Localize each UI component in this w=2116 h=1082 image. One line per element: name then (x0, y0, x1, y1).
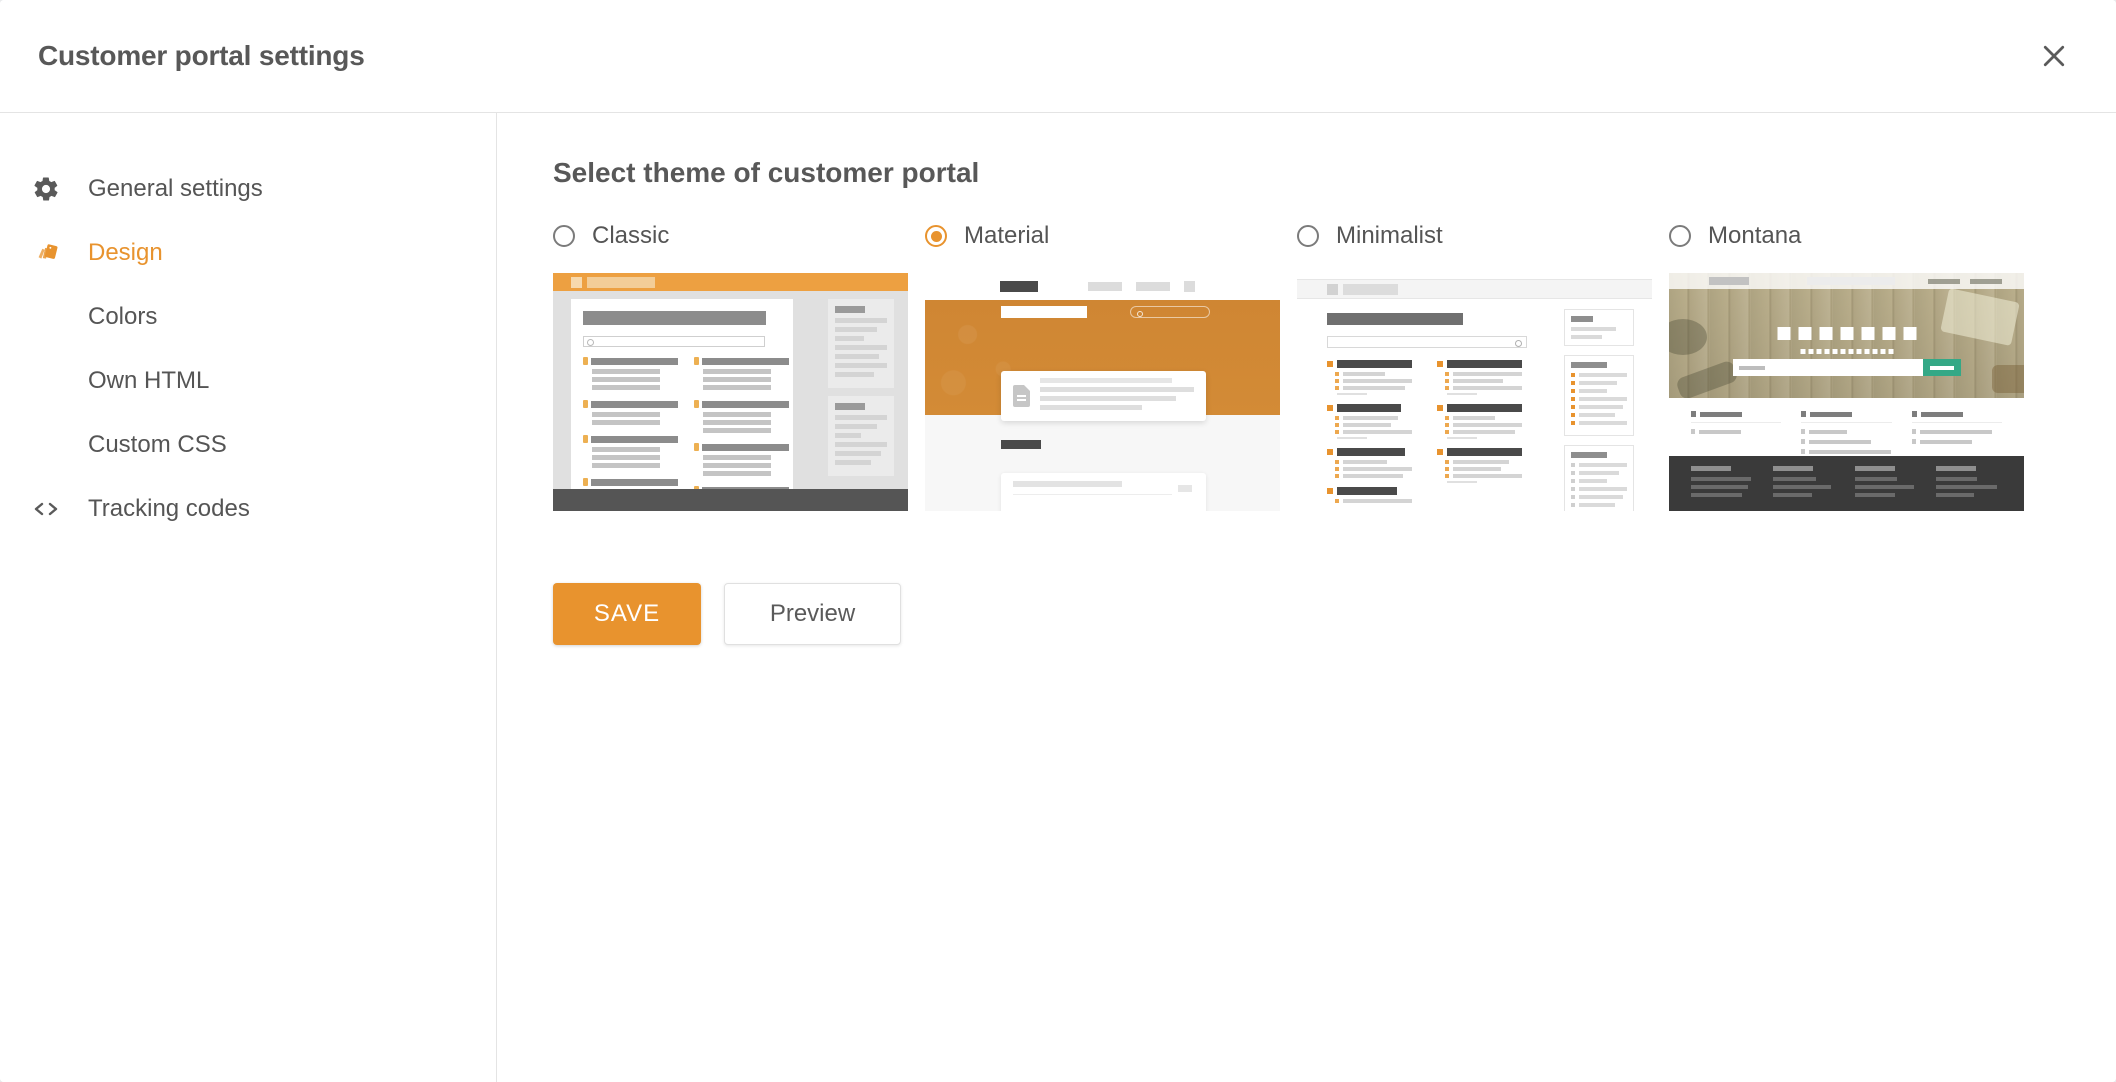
thumb-group-title (1337, 360, 1412, 368)
thumb-group (583, 435, 678, 468)
bullet-icon (1571, 397, 1575, 401)
bullet-icon (1571, 479, 1575, 483)
thumb-footer-title (1691, 466, 1731, 471)
bullet-icon (1445, 467, 1449, 471)
bullet-icon (1571, 381, 1575, 385)
thumb-icon (1882, 327, 1895, 340)
action-buttons: SAVE Preview (553, 583, 2116, 645)
thumb-group-head (694, 400, 789, 408)
folder-icon (583, 357, 588, 365)
sidebar-item-label: Colors (88, 303, 157, 331)
bullet-icon (1801, 449, 1805, 454)
thumb-title-bar (1327, 313, 1463, 325)
thumb-icon (1819, 327, 1832, 340)
thumb-side-row (1571, 405, 1627, 409)
bullet-icon (1571, 389, 1575, 393)
thumb-line (1453, 386, 1522, 390)
thumb-list-card (1001, 473, 1206, 511)
thumb-line (703, 471, 771, 476)
thumb-side-row (1571, 421, 1627, 425)
thumb-line (1343, 499, 1412, 503)
bullet-icon (1445, 474, 1449, 478)
theme-thumbnail-minimalist[interactable] (1297, 273, 1652, 511)
thumb-group (694, 443, 789, 476)
thumb-line (835, 363, 887, 368)
thumb-line (1579, 405, 1623, 409)
thumb-line (592, 369, 660, 374)
radio-montana[interactable]: Montana (1669, 219, 2041, 253)
preview-button[interactable]: Preview (724, 583, 901, 645)
bullet-icon (1571, 421, 1575, 425)
thumb-sub-item (1335, 372, 1412, 376)
thumb-group-head (1327, 360, 1412, 368)
thumb-line (703, 385, 771, 390)
thumb-icon (1801, 411, 1806, 417)
bullet-icon (1335, 474, 1339, 478)
thumb-side-title (1571, 362, 1607, 368)
thumb-icon (1903, 327, 1916, 340)
thumb-footer (1669, 456, 2024, 511)
thumb-logo (1327, 284, 1338, 295)
sidebar-item-label: General settings (88, 175, 263, 203)
thumb-line (703, 428, 771, 433)
bullet-icon (1437, 405, 1443, 411)
thumb-placeholder (1739, 366, 1765, 370)
thumb-sub-item (1335, 499, 1412, 503)
thumb-line (592, 377, 660, 382)
thumb-group-head (1691, 411, 1781, 423)
thumb-group-title (1810, 412, 1852, 417)
thumb-line (1691, 477, 1751, 481)
thumb-nav-items (1088, 281, 1260, 292)
thumb-group-title (591, 479, 678, 486)
thumb-group-title (1447, 404, 1522, 412)
bullet-icon (1327, 449, 1333, 455)
thumb-group-head (583, 435, 678, 443)
bullet-icon (1571, 405, 1575, 409)
thumb-icon (1691, 411, 1696, 417)
thumb-line (1571, 335, 1602, 339)
thumb-sub-item (1335, 423, 1412, 427)
thumb-decor (1669, 319, 1707, 355)
thumb-line (592, 385, 660, 390)
thumb-line (1579, 413, 1615, 417)
thumb-sub-item (1445, 423, 1522, 427)
thumb-line (1453, 416, 1495, 420)
thumb-hero-title (1001, 306, 1087, 318)
thumb-search-field (1327, 336, 1527, 348)
thumb-row (1801, 449, 1891, 454)
page-title: Customer portal settings (38, 40, 365, 72)
thumb-line (1579, 495, 1623, 499)
close-icon[interactable] (2032, 34, 2076, 78)
thumb-decor (1940, 288, 2020, 346)
thumb-side-row (1571, 413, 1627, 417)
thumb-line (1040, 396, 1176, 401)
folder-icon (583, 400, 588, 408)
thumb-line (1040, 387, 1194, 392)
thumb-side-row (1571, 397, 1627, 401)
folder-icon (694, 357, 699, 365)
thumb-columns (1669, 398, 2024, 463)
thumb-group (583, 357, 678, 390)
thumb-group-title (591, 401, 678, 408)
radio-icon[interactable] (1297, 225, 1319, 247)
thumb-main-card (571, 299, 793, 493)
sidebar-item-design[interactable]: Design (0, 221, 496, 285)
thumb-line (592, 420, 660, 425)
theme-thumbnail-material[interactable] (925, 273, 1280, 511)
thumb-line (1809, 450, 1891, 454)
thumb-label-row (1800, 349, 1893, 354)
thumb-decor (1992, 365, 2024, 393)
theme-option-minimalist: Minimalist (1297, 219, 1669, 511)
thumb-line (1855, 493, 1896, 497)
theme-thumbnail-classic[interactable] (553, 273, 908, 511)
thumb-sub-item (1445, 416, 1522, 420)
thumb-group-head (583, 400, 678, 408)
thumb-row (1801, 439, 1891, 444)
bullet-icon (1445, 423, 1449, 427)
thumb-line (1579, 463, 1627, 467)
bullet-icon (1335, 423, 1339, 427)
thumb-columns (583, 357, 793, 511)
sidebar-item-label: Custom CSS (88, 431, 227, 459)
thumb-line (1343, 423, 1391, 427)
thumb-side-row (1571, 389, 1627, 393)
radio-icon[interactable] (1669, 225, 1691, 247)
sidebar-item-label: Design (88, 239, 163, 267)
thumb-line (703, 377, 771, 382)
bullet-icon (1445, 416, 1449, 420)
theme-thumbnail-montana[interactable] (1669, 273, 2024, 511)
thumb-more-link (1447, 393, 1477, 395)
thumb-side-box (1564, 445, 1634, 511)
thumb-line (1343, 372, 1385, 376)
bullet-icon (1801, 439, 1805, 444)
thumb-line (1343, 474, 1403, 478)
sidebar-item-own-html[interactable]: Own HTML (0, 349, 496, 413)
thumb-line (1343, 467, 1412, 471)
sidebar-item-label: Own HTML (88, 367, 209, 395)
thumb-nav-item (1088, 282, 1122, 291)
thumb-line (1040, 378, 1172, 383)
thumb-column (583, 357, 678, 511)
bullet-icon (1335, 379, 1339, 383)
thumb-header (1297, 279, 1652, 299)
thumb-divider (1013, 494, 1172, 495)
thumb-line (835, 433, 861, 438)
thumb-line (835, 318, 887, 323)
bullet-icon (1335, 460, 1339, 464)
thumb-group-head (694, 357, 789, 365)
thumb-group (1327, 360, 1412, 395)
thumb-sub-item (1445, 474, 1522, 478)
thumb-search-field (1807, 277, 1895, 285)
bullet-icon (1335, 386, 1339, 390)
thumb-side-row (1571, 503, 1627, 507)
thumb-line (1855, 477, 1897, 481)
thumb-group-title (702, 358, 789, 365)
bullet-icon (1335, 499, 1339, 503)
thumb-line (835, 372, 874, 377)
thumb-line (1040, 405, 1142, 410)
sidebar-item-custom-css[interactable]: Custom CSS (0, 413, 496, 477)
thumb-side-row (1571, 495, 1627, 499)
thumb-logo-text (1343, 284, 1398, 295)
thumb-footer-column (1936, 466, 2002, 501)
thumb-group-title (591, 358, 678, 365)
bullet-icon (1801, 429, 1805, 434)
thumb-group (1437, 360, 1522, 395)
thumb-footer-column (1855, 466, 1921, 501)
radio-classic[interactable]: Classic (553, 219, 925, 253)
bullet-icon (1571, 503, 1575, 507)
bullet-icon (1912, 429, 1916, 434)
thumb-line (1343, 379, 1412, 383)
thumb-side-title (835, 403, 865, 410)
thumb-line (1691, 493, 1742, 497)
thumb-group-head (1437, 448, 1522, 456)
thumb-dot (1824, 349, 1829, 354)
thumb-group (694, 400, 789, 433)
thumb-sub-item (1335, 386, 1412, 390)
thumb-side-title (1571, 452, 1607, 458)
thumb-footer-column (1773, 466, 1839, 501)
thumb-dot (1872, 349, 1877, 354)
thumb-group-title (591, 436, 678, 443)
thumb-title-bar (583, 311, 766, 325)
thumb-line (1571, 327, 1616, 331)
thumb-group (1437, 448, 1522, 483)
thumb-more-link (1447, 437, 1477, 439)
radio-material[interactable]: Material (925, 219, 1297, 253)
thumb-group-title (1700, 412, 1742, 417)
theme-label: Material (964, 222, 1049, 250)
modal-header: Customer portal settings (0, 0, 2116, 113)
thumb-nav-item (1184, 281, 1195, 292)
thumb-line (1579, 373, 1627, 377)
thumb-hero-photo (1669, 273, 2024, 398)
thumb-nav-items (1928, 279, 2024, 284)
bullet-icon (1571, 463, 1575, 467)
thumb-group-title (702, 401, 789, 408)
bullet-icon (1912, 439, 1916, 444)
thumb-line (1691, 485, 1748, 489)
thumb-line (835, 336, 864, 341)
thumb-icon (1840, 327, 1853, 340)
theme-label: Montana (1708, 222, 1801, 250)
theme-grid: Classic (553, 219, 2116, 511)
thumb-logo-text (587, 277, 655, 288)
thumb-line (1936, 485, 1996, 489)
thumb-search-button (1923, 359, 1961, 376)
bullet-icon (1327, 405, 1333, 411)
thumb-line (835, 345, 887, 350)
bullet-icon (1327, 488, 1333, 494)
thumb-dot (1888, 349, 1893, 354)
thumb-search-bar (1733, 359, 1961, 376)
thumb-line (1579, 487, 1627, 491)
thumb-nav-item (1136, 282, 1170, 291)
thumb-group (1327, 487, 1412, 503)
sidebar-item-general-settings[interactable]: General settings (0, 157, 496, 221)
thumb-dot (1856, 349, 1861, 354)
theme-option-montana: Montana (1669, 219, 2041, 511)
thumb-more-link (1447, 481, 1477, 483)
thumb-sub-item (1445, 379, 1522, 383)
thumb-more-link (1337, 437, 1367, 439)
thumb-group (1327, 448, 1412, 478)
thumb-row (1912, 429, 2002, 434)
thumb-column (1327, 360, 1412, 511)
thumb-line (1453, 467, 1501, 471)
bullet-icon (1571, 471, 1575, 475)
thumb-line (1936, 477, 1977, 481)
bullet-icon (1571, 487, 1575, 491)
thumb-line (835, 327, 877, 332)
sidebar-item-tracking-codes[interactable]: Tracking codes (0, 477, 496, 541)
radio-icon[interactable] (925, 225, 947, 247)
thumb-side-row (1571, 471, 1627, 475)
thumb-row (1691, 429, 1781, 434)
content-pane: Select theme of customer portal Classic (497, 113, 2116, 1082)
bullet-icon (1445, 460, 1449, 464)
thumb-icon (1798, 327, 1811, 340)
thumb-line (1936, 493, 1974, 497)
thumb-dot (1840, 349, 1845, 354)
code-icon (32, 497, 72, 521)
bullet-icon (1437, 361, 1443, 367)
thumb-group-title (1921, 412, 1963, 417)
thumb-sidebar (828, 299, 894, 484)
thumb-line (1920, 430, 1992, 434)
thumb-button-label (1930, 366, 1954, 370)
bullet-icon (1571, 373, 1575, 377)
thumb-line (1343, 430, 1412, 434)
thumb-row (1801, 429, 1891, 434)
thumb-group-title (1337, 448, 1405, 456)
thumb-group-title (702, 444, 789, 451)
thumb-line (1453, 474, 1522, 478)
thumb-side-row (1571, 479, 1627, 483)
thumb-line (835, 424, 877, 429)
thumb-search-input (1733, 359, 1923, 376)
thumb-line (1579, 381, 1617, 385)
folder-icon (694, 400, 699, 408)
thumb-line (1773, 477, 1816, 481)
bullet-icon (1335, 416, 1339, 420)
thumb-line (1773, 485, 1831, 489)
thumb-hero-search (1130, 306, 1210, 318)
thumb-line (592, 463, 660, 468)
document-icon (1013, 385, 1030, 407)
thumb-sub-item (1335, 430, 1412, 434)
thumb-line (703, 412, 771, 417)
thumb-column (694, 357, 789, 511)
bullet-icon (1445, 386, 1449, 390)
sidebar: General settings Design Colors (0, 113, 497, 1082)
thumb-nav-item (1970, 279, 2002, 284)
thumb-line (1453, 379, 1503, 383)
sidebar-item-colors[interactable]: Colors (0, 285, 496, 349)
thumb-line (703, 463, 771, 468)
thumb-group-title (1447, 360, 1522, 368)
thumb-line (1920, 440, 1972, 444)
thumb-line (1453, 460, 1509, 464)
thumb-navbar (925, 273, 1280, 300)
thumb-sub-item (1445, 460, 1522, 464)
thumb-dot (1880, 349, 1885, 354)
bullet-icon (1445, 430, 1449, 434)
thumb-line (1579, 397, 1627, 401)
thumb-logo (571, 277, 582, 288)
thumb-line (1773, 493, 1812, 497)
thumb-line (1579, 503, 1615, 507)
thumb-side-row (1571, 487, 1627, 491)
folder-icon (583, 435, 588, 443)
thumb-group-head (583, 478, 678, 486)
thumb-line (1453, 430, 1515, 434)
gear-icon (32, 175, 72, 203)
thumb-line (1013, 481, 1122, 487)
thumb-decor (1675, 359, 1739, 398)
thumb-group-head (1437, 404, 1522, 412)
thumb-badge (1178, 485, 1192, 492)
thumb-icon-row (1777, 327, 1916, 340)
thumb-line (1579, 389, 1607, 393)
thumb-group-title (1337, 487, 1397, 495)
thumb-nav-item (1928, 279, 1960, 284)
thumb-sub-item (1335, 379, 1412, 383)
bullet-icon (1335, 372, 1339, 376)
thumb-group (583, 400, 678, 425)
thumb-line (1453, 423, 1522, 427)
thumb-header (553, 273, 908, 291)
radio-minimalist[interactable]: Minimalist (1297, 219, 1669, 253)
thumb-side-title (835, 306, 865, 313)
thumb-line (835, 442, 887, 447)
thumb-dot (1808, 349, 1813, 354)
thumb-group-head (583, 357, 678, 365)
thumb-footer-column (1691, 466, 1757, 501)
thumb-sub-item (1445, 372, 1522, 376)
theme-option-material: Material (925, 219, 1297, 511)
modal-body: General settings Design Colors (0, 113, 2116, 1082)
thumb-row (1912, 439, 2002, 444)
thumb-line (592, 412, 660, 417)
thumb-line (703, 420, 771, 425)
radio-icon[interactable] (553, 225, 575, 247)
thumb-line (703, 369, 771, 374)
thumb-dot (1816, 349, 1821, 354)
bullet-icon (1571, 413, 1575, 417)
save-button[interactable]: SAVE (553, 583, 701, 645)
thumb-feature-card (1001, 371, 1206, 421)
thumb-sub-item (1445, 467, 1522, 471)
thumb-side-row (1571, 463, 1627, 467)
thumb-group-head (1327, 448, 1412, 456)
bullet-icon (1445, 379, 1449, 383)
thumb-sub-item (1445, 386, 1522, 390)
thumb-group-head (1437, 360, 1522, 368)
thumb-sidebar (1564, 309, 1634, 511)
bullet-icon (1327, 361, 1333, 367)
thumb-topbar (1669, 273, 2024, 289)
thumb-logo (1000, 281, 1038, 292)
theme-label: Classic (592, 222, 669, 250)
thumb-footer-title (1936, 466, 1976, 471)
